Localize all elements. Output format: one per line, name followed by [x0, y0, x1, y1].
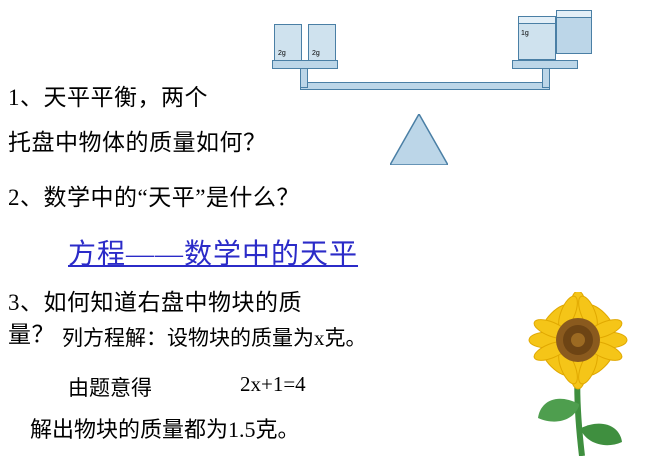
highlight-statement: 方程——数学中的天平 [68, 232, 358, 272]
object-boxes-right: 1g [510, 16, 596, 64]
scale-pan-left [272, 60, 338, 69]
question-3-line-1: 3、如何知道右盘中物块的质 [8, 283, 302, 317]
equation-text: 2x+1=4 [240, 372, 306, 397]
solution-setup: 列方程解：设物块的质量为x克。 [62, 322, 367, 352]
balance-scale-diagram: 2g 2g 1g [240, 4, 650, 179]
weight-label-1: 2g [278, 50, 286, 58]
scale-post-left [300, 66, 308, 88]
box-right-face [556, 16, 592, 54]
weight-label-2: 2g [312, 50, 320, 58]
scale-post-right [542, 66, 550, 88]
given-label: 由题意得 [68, 372, 152, 402]
box-left-face [518, 22, 556, 60]
question-3-line-2: 量？ [8, 315, 55, 349]
scale-fulcrum-outline [390, 114, 448, 165]
question-1-line-2: 托盘中物体的质量如何？ [8, 123, 267, 157]
weight-block-1: 2g [274, 24, 302, 61]
box-label-1g: 1g [521, 30, 529, 38]
answer-text: 解出物块的质量都为1.5克。 [30, 412, 300, 444]
box-left-top [518, 16, 556, 24]
weight-block-2: 2g [308, 24, 336, 61]
question-2: 2、数学中的“天平”是什么？ [8, 178, 300, 212]
scale-beam [300, 82, 550, 90]
slide-canvas: 2g 2g 1g 1、天平平衡，两个 托盘中物体的质量如何？ 2、数学中的“天平… [0, 0, 651, 456]
box-right-top [556, 10, 592, 18]
question-1-line-1: 1、天平平衡，两个 [8, 78, 208, 112]
sunflower-image [516, 292, 646, 456]
